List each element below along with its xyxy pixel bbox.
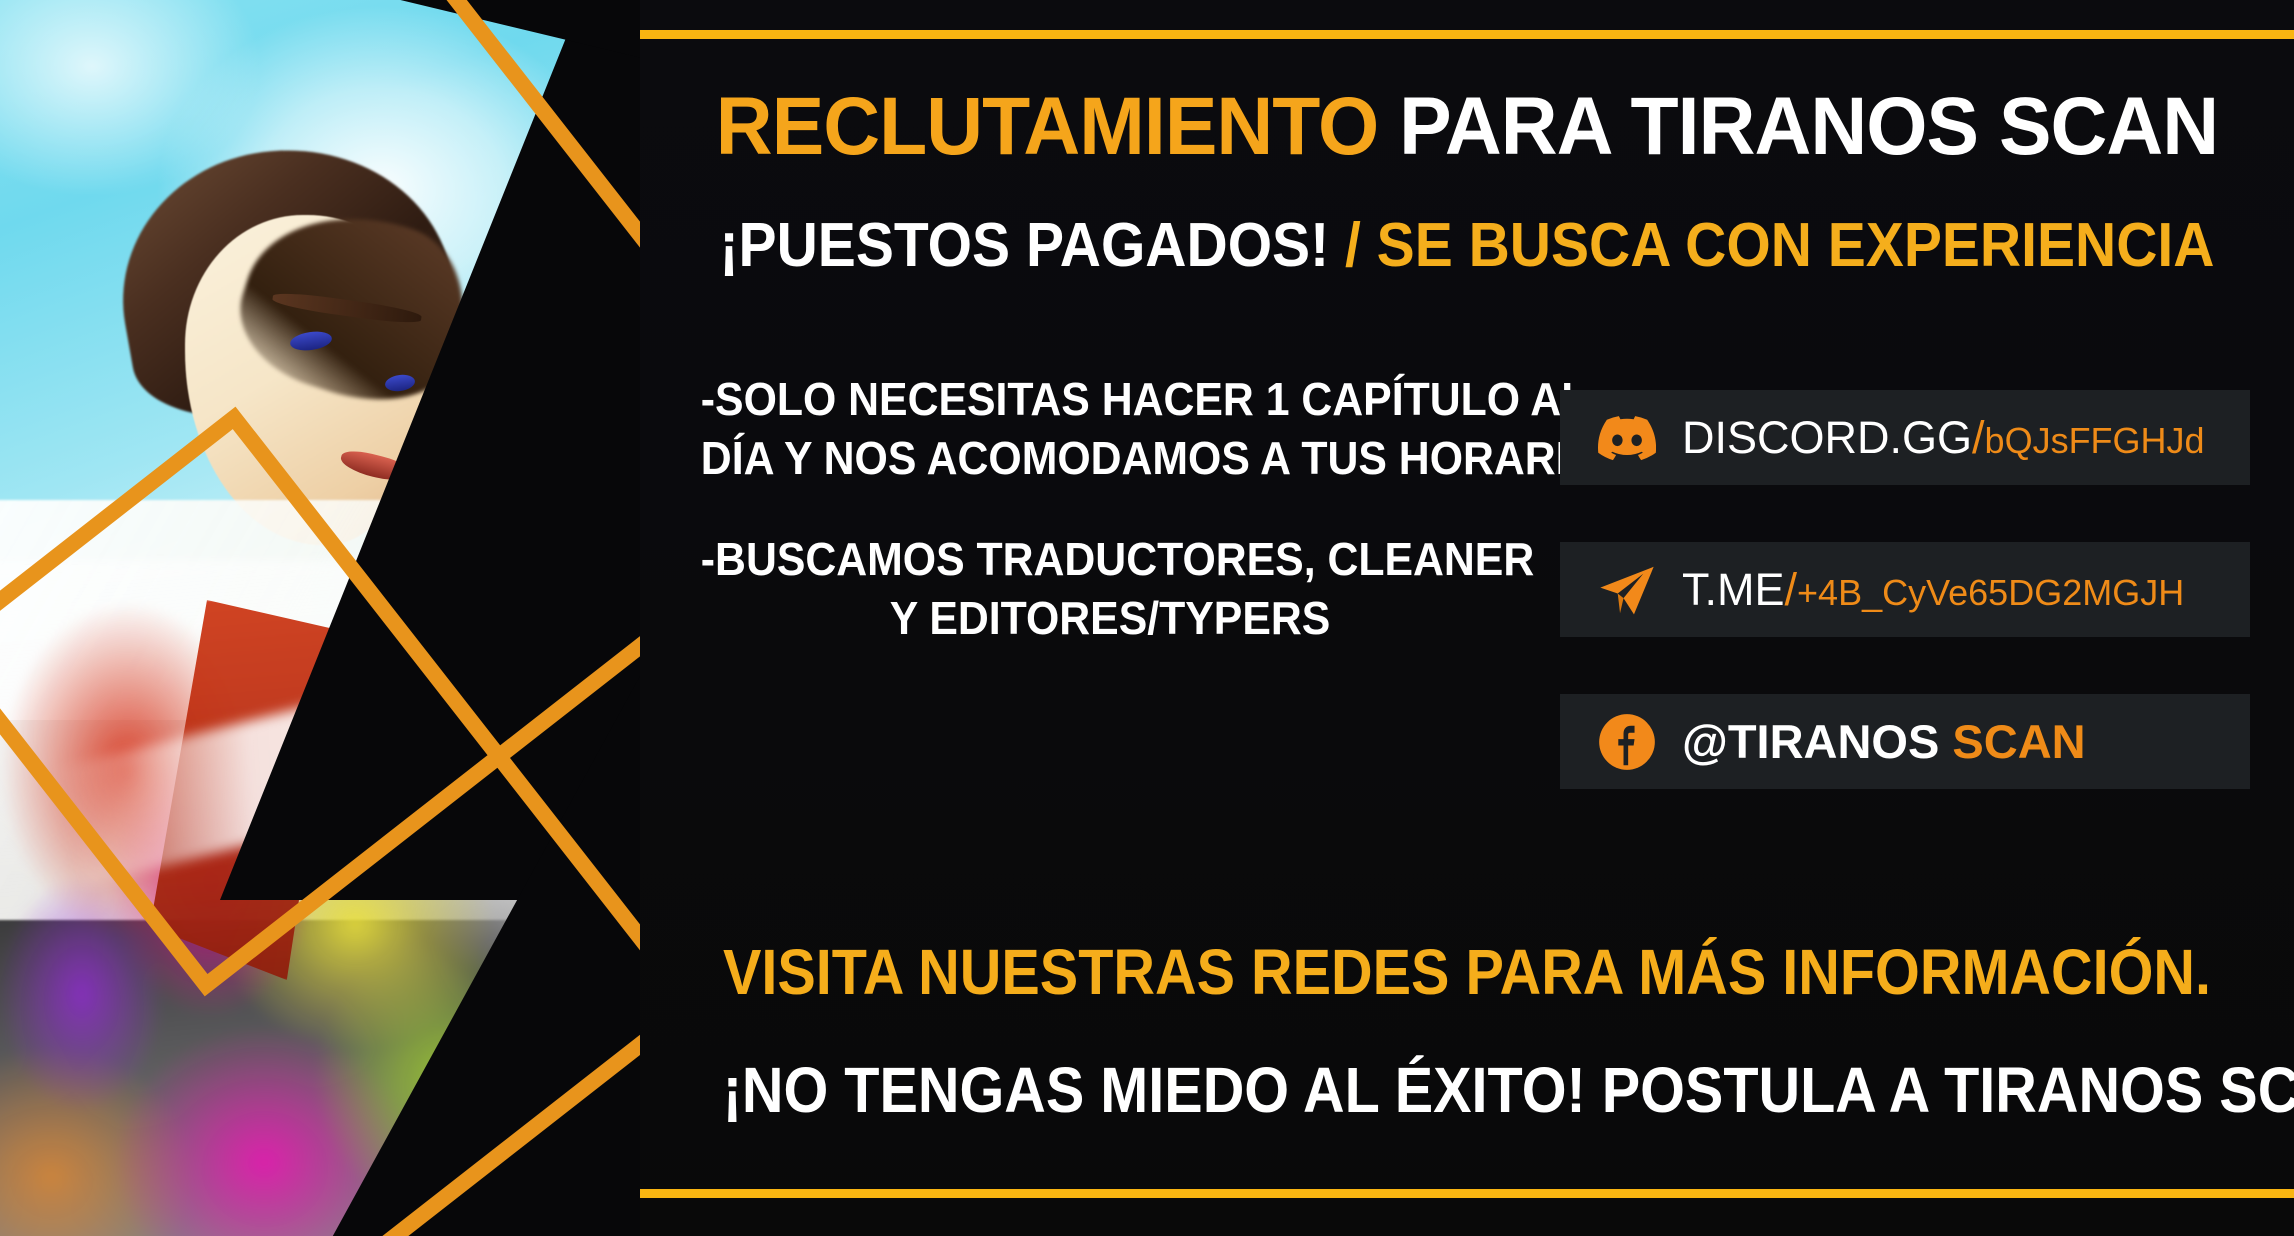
bullet-line: DÍA Y NOS ACOMODAMOS A TUS HORARIOS (701, 429, 1519, 488)
bullet-line: -BUSCAMOS TRADUCTORES, CLEANER (701, 530, 1519, 589)
telegram-icon (1598, 561, 1656, 619)
character-artwork-panel (0, 0, 640, 1236)
bullet-item: -BUSCAMOS TRADUCTORES, CLEANER Y EDITORE… (701, 530, 1519, 648)
contact-telegram[interactable]: T.ME/+4B_CyVe65DG2MGJH (1560, 542, 2250, 637)
bottom-gold-rule (640, 1189, 2294, 1198)
discord-domain: DISCORD.GG (1682, 412, 1972, 463)
discord-link-text: DISCORD.GG/bQJsFFGHJd (1682, 412, 2205, 464)
discord-separator: / (1972, 412, 1985, 463)
headline-white-part: PARA TIRANOS SCAN (1399, 81, 2218, 172)
discord-invite-code: bQJsFFGHJd (1985, 420, 2205, 461)
telegram-separator: / (1785, 564, 1798, 615)
cta-line-1: VISITA NUESTRAS REDES PARA MÁS INFORMACI… (723, 940, 2212, 1004)
discord-icon (1598, 409, 1656, 467)
bullet-item: -SOLO NECESITAS HACER 1 CAPÍTULO AL DÍA … (701, 370, 1519, 488)
facebook-handle-suffix: SCAN (1952, 715, 2085, 768)
call-to-action: VISITA NUESTRAS REDES PARA MÁS INFORMACI… (640, 940, 2294, 1122)
facebook-handle: @TIRANOS (1682, 715, 1939, 768)
cta-line-2: ¡NO TENGAS MIEDO AL ÉXITO! POSTULA A TIR… (723, 1058, 2212, 1122)
bullet-line: Y EDITORES/TYPERS (701, 589, 1519, 648)
facebook-link-text: @TIRANOS SCAN (1682, 714, 2086, 769)
headline-gold-part: RECLUTAMIENTO (716, 81, 1378, 172)
page-subtitle: ¡PUESTOS PAGADOS! / SE BUSCA CON EXPERIE… (706, 215, 2228, 277)
recruitment-banner: RECLUTAMIENTO PARA TIRANOS SCAN ¡PUESTOS… (0, 0, 2294, 1236)
bullet-line: -SOLO NECESITAS HACER 1 CAPÍTULO AL (701, 370, 1519, 429)
contact-links-group: DISCORD.GG/bQJsFFGHJd T.ME/+4B_CyVe65DG2… (1560, 390, 2250, 789)
telegram-invite-code: +4B_CyVe65DG2MGJH (1797, 572, 2184, 613)
facebook-icon (1598, 713, 1656, 771)
contact-discord[interactable]: DISCORD.GG/bQJsFFGHJd (1560, 390, 2250, 485)
subhead-gold-part: / SE BUSCA CON EXPERIENCIA (1345, 211, 2214, 280)
top-gold-rule (640, 30, 2294, 39)
telegram-link-text: T.ME/+4B_CyVe65DG2MGJH (1682, 564, 2184, 616)
contact-facebook[interactable]: @TIRANOS SCAN (1560, 694, 2250, 789)
subhead-white-part: ¡PUESTOS PAGADOS! (720, 211, 1330, 280)
telegram-domain: T.ME (1682, 564, 1785, 615)
page-title: RECLUTAMIENTO PARA TIRANOS SCAN (673, 86, 2261, 168)
content-panel: RECLUTAMIENTO PARA TIRANOS SCAN ¡PUESTOS… (640, 0, 2294, 1236)
job-details-list: -SOLO NECESITAS HACER 1 CAPÍTULO AL DÍA … (701, 370, 1519, 648)
